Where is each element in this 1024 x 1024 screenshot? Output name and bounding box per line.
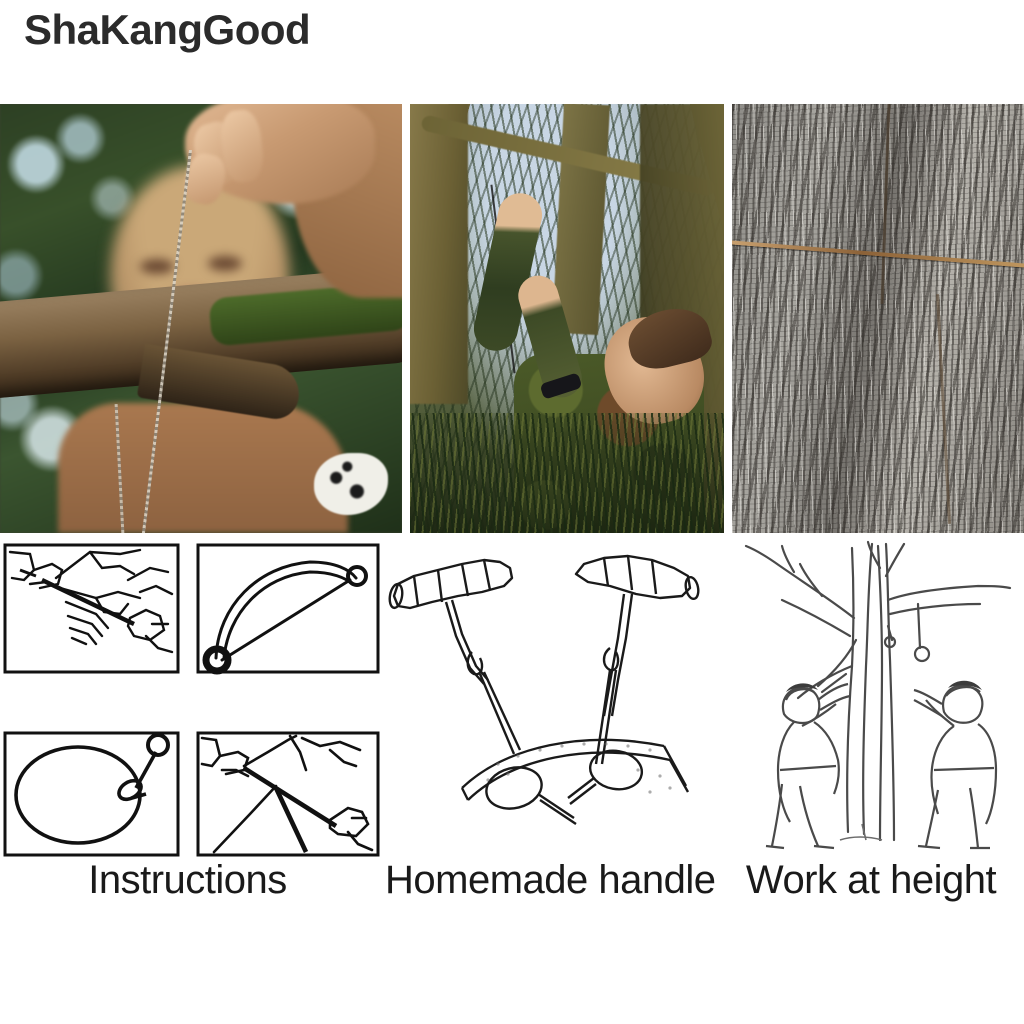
photo-gutter <box>402 104 410 533</box>
drawing-instructions <box>0 540 385 860</box>
photo-gutter <box>724 104 732 533</box>
blurred-eye-left <box>140 259 174 274</box>
photo-hand-wire-saw-branch <box>0 104 402 533</box>
caption-instructions: Instructions <box>0 858 375 903</box>
child-torso <box>58 403 348 533</box>
instructions-svg <box>0 540 385 860</box>
instruction-drawing-row <box>0 540 1024 860</box>
caption-homemade-handle: Homemade handle <box>385 858 715 903</box>
photo-camo-man-reaching-branch <box>410 104 724 533</box>
tree-bark-texture <box>732 104 1024 533</box>
caption-row: Instructions Homemade handle Work at hei… <box>0 858 1024 906</box>
work-at-height-svg <box>722 540 1024 860</box>
watermark-shakanggood: ShaKangGood <box>24 8 310 52</box>
drawing-work-at-height <box>722 540 1024 860</box>
photo-bark-wire-closeup <box>732 104 1024 533</box>
caption-work-at-height: Work at height <box>718 858 1024 903</box>
undergrowth <box>410 413 724 533</box>
tree-trunk-left <box>410 104 468 404</box>
homemade-handle-svg <box>388 540 718 860</box>
drawing-homemade-handle <box>388 540 718 860</box>
product-photo-row <box>0 104 1024 533</box>
blurred-eye-right <box>208 256 242 271</box>
